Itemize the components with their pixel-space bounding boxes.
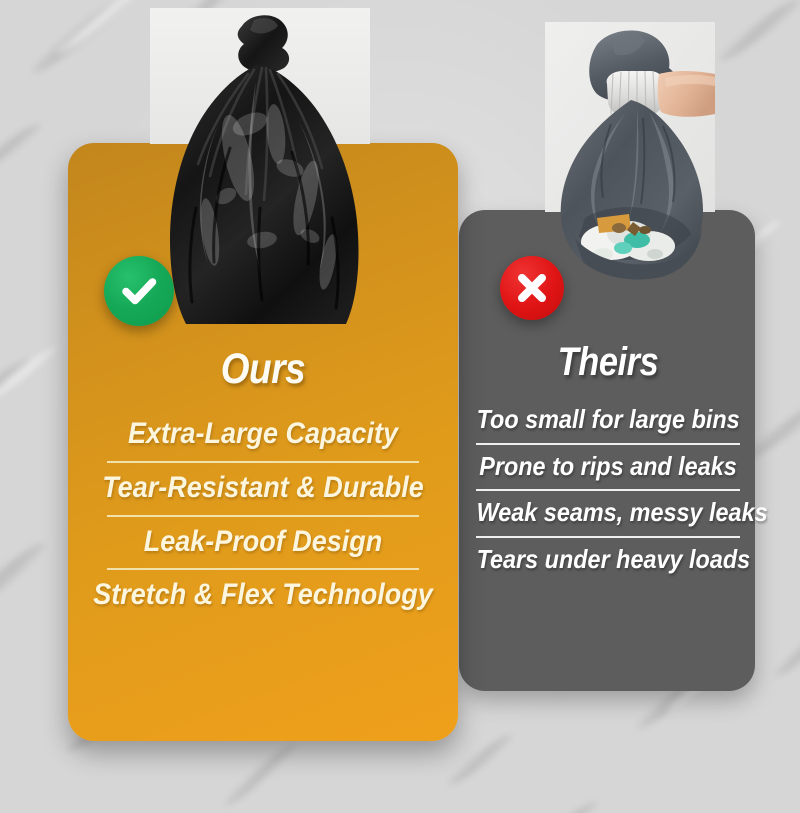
ours-title-gap bbox=[68, 391, 458, 409]
ours-feature-row: Tear-Resistant & Durable bbox=[68, 463, 458, 515]
theirs-title-gap bbox=[462, 382, 754, 398]
ours-feature-label: Tear-Resistant & Durable bbox=[88, 472, 439, 504]
infographic-canvas: Ours Extra-Large Capacity Tear-Resistant… bbox=[0, 0, 800, 813]
ours-feature-row: Stretch & Flex Technology bbox=[68, 570, 458, 622]
theirs-feature-label: Prone to rips and leaks bbox=[477, 453, 740, 481]
theirs-feature-row: Prone to rips and leaks bbox=[462, 445, 754, 490]
ours-title: Ours bbox=[95, 348, 430, 391]
check-circle-icon bbox=[104, 256, 174, 326]
ours-divider bbox=[107, 515, 419, 517]
theirs-feature-label: Too small for large bins bbox=[477, 406, 740, 434]
theirs-content: Theirs Too small for large bins Prone to… bbox=[462, 342, 754, 582]
x-circle-icon bbox=[500, 256, 564, 320]
theirs-feature-row: Tears under heavy loads bbox=[462, 538, 754, 583]
theirs-feature-label: Weak seams, messy leaks bbox=[477, 499, 740, 527]
theirs-feature-row: Too small for large bins bbox=[462, 398, 754, 443]
theirs-feature-row: Weak seams, messy leaks bbox=[462, 491, 754, 536]
theirs-title: Theirs bbox=[482, 342, 733, 382]
ours-feature-label: Extra-Large Capacity bbox=[88, 418, 439, 450]
ours-feature-label: Stretch & Flex Technology bbox=[88, 579, 439, 611]
ours-feature-row: Leak-Proof Design bbox=[68, 517, 458, 569]
theirs-feature-label: Tears under heavy loads bbox=[477, 546, 740, 574]
ours-content: Ours Extra-Large Capacity Tear-Resistant… bbox=[68, 348, 458, 622]
ours-feature-label: Leak-Proof Design bbox=[88, 526, 439, 558]
ours-divider bbox=[107, 568, 419, 570]
ours-feature-row: Extra-Large Capacity bbox=[68, 409, 458, 461]
theirs-divider bbox=[476, 443, 740, 445]
ours-divider bbox=[107, 461, 419, 463]
theirs-divider bbox=[476, 489, 740, 491]
theirs-divider bbox=[476, 536, 740, 538]
